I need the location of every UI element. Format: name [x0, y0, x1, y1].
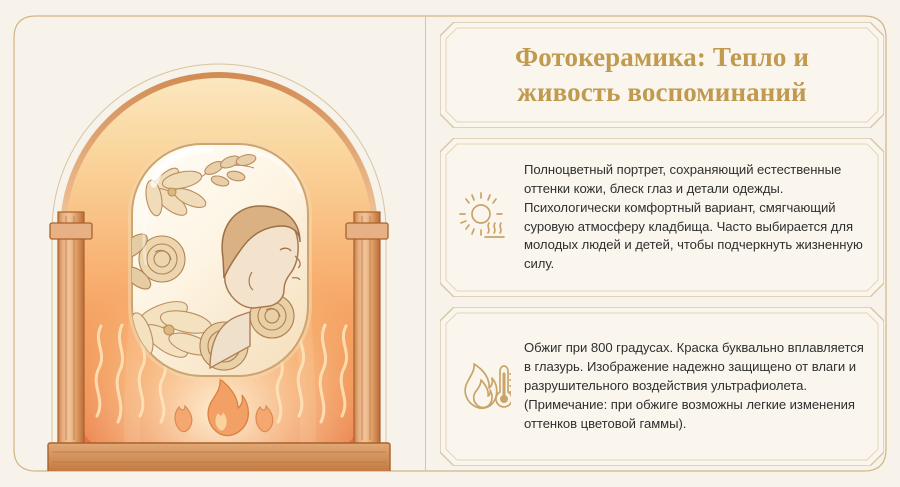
title-card-content: Фотокерамика: Тепло и живость воспоминан… — [440, 22, 884, 128]
panel-divider — [425, 16, 426, 471]
title-card: Фотокерамика: Тепло и живость воспоминан… — [440, 22, 884, 128]
right-column-capital — [346, 223, 388, 239]
sun-heat-icon — [456, 190, 512, 246]
illustration-kiln-arch — [14, 16, 425, 471]
ceramic-medallion — [117, 140, 312, 380]
info-card-full-color-portrait: Полноцветный портрет, сохраняющий естест… — [440, 138, 884, 297]
heat-waves — [485, 223, 504, 237]
thermometer-bulb — [500, 395, 508, 403]
page-title: Фотокерамика: Тепло и живость воспоминан… — [515, 40, 809, 109]
title-line-2: живость воспоминаний — [515, 75, 809, 110]
infographic-page: Фотокерамика: Тепло и живость воспоминан… — [0, 0, 900, 487]
sun-disc — [472, 205, 490, 223]
flame-thermometer-icon — [456, 359, 512, 415]
sun-rays — [460, 193, 502, 235]
info-card-1-text: Полноцветный портрет, сохраняющий естест… — [524, 161, 864, 274]
content-column: Фотокерамика: Тепло и живость воспоминан… — [440, 22, 884, 466]
plinth-body — [48, 443, 390, 471]
title-line-1: Фотокерамика: Тепло и — [515, 40, 809, 75]
base-plinth — [48, 443, 390, 471]
info-card-1-content: Полноцветный портрет, сохраняющий естест… — [440, 138, 884, 297]
info-card-2-text: Обжиг при 800 градусах. Краска буквально… — [524, 339, 864, 433]
left-column-capital — [50, 223, 92, 239]
info-card-firing-process: Обжиг при 800 градусах. Краска буквально… — [440, 307, 884, 466]
info-card-2-content: Обжиг при 800 градусах. Краска буквально… — [440, 307, 884, 466]
right-column-shaft — [354, 212, 380, 444]
left-column-shaft — [58, 212, 84, 444]
